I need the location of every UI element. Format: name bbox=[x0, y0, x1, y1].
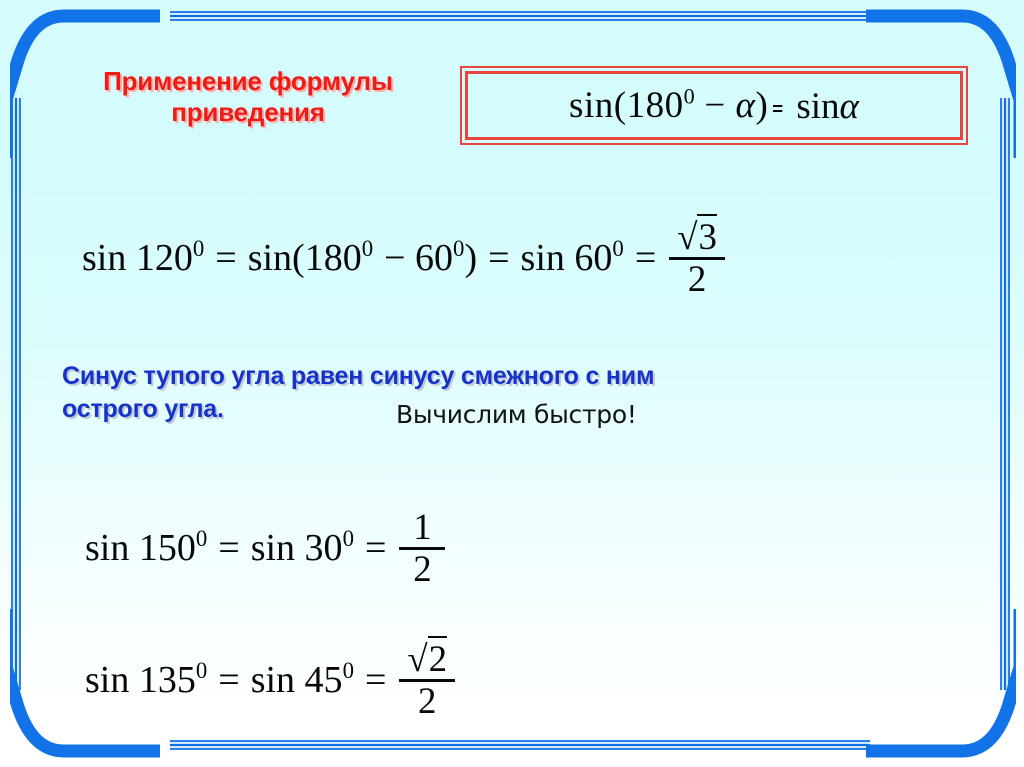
identity-sin-label: sin bbox=[569, 85, 614, 126]
formula-sin-120-radical-icon: √ bbox=[677, 216, 696, 257]
formula-sin-135-denominator: 2 bbox=[410, 682, 444, 721]
identity-rhs: sinα bbox=[787, 85, 859, 126]
identity-alpha: α bbox=[736, 85, 756, 126]
compute-prompt: Вычислим быстро! bbox=[396, 400, 637, 429]
formula-sin-120-equals-2: = bbox=[488, 236, 509, 280]
frame-rule-right bbox=[1000, 98, 1011, 690]
identity-minus: − bbox=[695, 85, 736, 126]
formula-sin-120-term-4: sin 600 bbox=[521, 236, 624, 280]
formula-sin-135-radicand: 2 bbox=[428, 636, 447, 679]
formula-sin-120-term-3-degree: 0 bbox=[453, 236, 464, 261]
formula-sin-150-term-1: sin 1500 bbox=[85, 526, 207, 570]
identity-lhs: sin(1800 − α) bbox=[569, 85, 768, 126]
formula-sin-120-term-3-text: − 60 bbox=[384, 237, 453, 279]
formula-sin-135-equals-2: = bbox=[365, 658, 386, 702]
formula-sin-120-radicand: 3 bbox=[697, 214, 716, 257]
formula-sin-135-result-fraction: √2 2 bbox=[399, 640, 455, 721]
formula-sin-150-term-2-degree: 0 bbox=[343, 526, 354, 551]
formula-sin-120-term-2-text: sin(180 bbox=[248, 237, 362, 279]
identity-close-paren: ) bbox=[755, 85, 768, 126]
identity-formula: sin(1800 − α)= sinα bbox=[569, 84, 859, 128]
formula-sin-120-numerator: √3 bbox=[669, 218, 725, 257]
formula-sin-120-term-2-degree: 0 bbox=[362, 236, 373, 261]
slide-title-line-1: Применение формулы bbox=[48, 66, 448, 97]
identity-formula-box: sin(1800 − α)= sinα bbox=[460, 66, 968, 145]
frame-rule-bottom bbox=[170, 740, 870, 751]
formula-sin-120-equals-1: = bbox=[215, 236, 236, 280]
formula-sin-150-term-1-degree: 0 bbox=[196, 526, 207, 551]
formula-sin-135-term-2-degree: 0 bbox=[343, 658, 354, 683]
formula-sin-120-result-fraction: √3 2 bbox=[669, 218, 725, 299]
formula-sin-120-denominator: 2 bbox=[680, 260, 714, 299]
identity-open-paren: ( bbox=[614, 85, 627, 126]
formula-sin-120-term-1: sin 1200 bbox=[82, 236, 204, 280]
formula-sin-135-radical-icon: √ bbox=[407, 638, 426, 679]
formula-sin-120-equals-3: = bbox=[635, 236, 656, 280]
formula-sin-150-equals-1: = bbox=[218, 526, 239, 570]
formula-sin-120-term-2: sin(1800 bbox=[248, 236, 373, 280]
formula-sin-150: sin 1500 = sin 300 = 1 2 bbox=[85, 508, 445, 589]
frame-rule-left bbox=[11, 98, 22, 690]
formula-sin-120: sin 1200 = sin(1800 − 600) = sin 600 = √… bbox=[82, 218, 725, 299]
slide-title: Применение формулы приведения bbox=[48, 66, 448, 127]
formula-sin-150-numerator: 1 bbox=[405, 508, 439, 547]
formula-sin-120-term-3: − 600) bbox=[384, 236, 477, 280]
formula-sin-135: sin 1350 = sin 450 = √2 2 bbox=[85, 640, 455, 721]
formula-sin-135-numerator: √2 bbox=[399, 640, 455, 679]
identity-equals-sign: = bbox=[768, 98, 787, 119]
corner-swoosh-bottom-right-icon bbox=[866, 609, 1016, 759]
identity-rhs-alpha: α bbox=[840, 85, 859, 126]
slide-title-line-2: приведения bbox=[48, 97, 448, 128]
slide-canvas: Применение формулы приведения sin(1800 −… bbox=[0, 0, 1024, 767]
formula-sin-150-term-2-text: sin 30 bbox=[251, 527, 343, 569]
formula-sin-120-term-4-text: sin 60 bbox=[521, 237, 613, 279]
formula-sin-150-equals-2: = bbox=[365, 526, 386, 570]
formula-sin-135-term-2-text: sin 45 bbox=[251, 659, 343, 701]
identity-angle: 180 bbox=[627, 85, 684, 126]
rule-statement-line-2: острого угла. bbox=[62, 395, 224, 423]
formula-sin-120-term-1-degree: 0 bbox=[193, 236, 204, 261]
identity-degree-sup: 0 bbox=[684, 84, 695, 109]
rule-statement-line-1: Синус тупого угла равен синусу смежного … bbox=[62, 362, 654, 390]
identity-formula-box-inner: sin(1800 − α)= sinα bbox=[465, 71, 963, 140]
frame-rule-top bbox=[170, 11, 930, 22]
formula-sin-150-denominator: 2 bbox=[405, 550, 439, 589]
identity-rhs-sin-label: sin bbox=[796, 85, 839, 126]
formula-sin-120-close-paren: ) bbox=[464, 237, 477, 279]
formula-sin-135-equals-1: = bbox=[218, 658, 239, 702]
formula-sin-150-term-1-text: sin 150 bbox=[85, 527, 196, 569]
formula-sin-120-term-1-text: sin 120 bbox=[82, 237, 193, 279]
formula-sin-150-term-2: sin 300 bbox=[251, 526, 354, 570]
formula-sin-150-result-fraction: 1 2 bbox=[399, 508, 445, 589]
formula-sin-120-term-4-degree: 0 bbox=[612, 236, 623, 261]
formula-sin-135-term-1: sin 1350 bbox=[85, 658, 207, 702]
formula-sin-135-term-1-text: sin 135 bbox=[85, 659, 196, 701]
formula-sin-135-term-2: sin 450 bbox=[251, 658, 354, 702]
formula-sin-135-term-1-degree: 0 bbox=[196, 658, 207, 683]
